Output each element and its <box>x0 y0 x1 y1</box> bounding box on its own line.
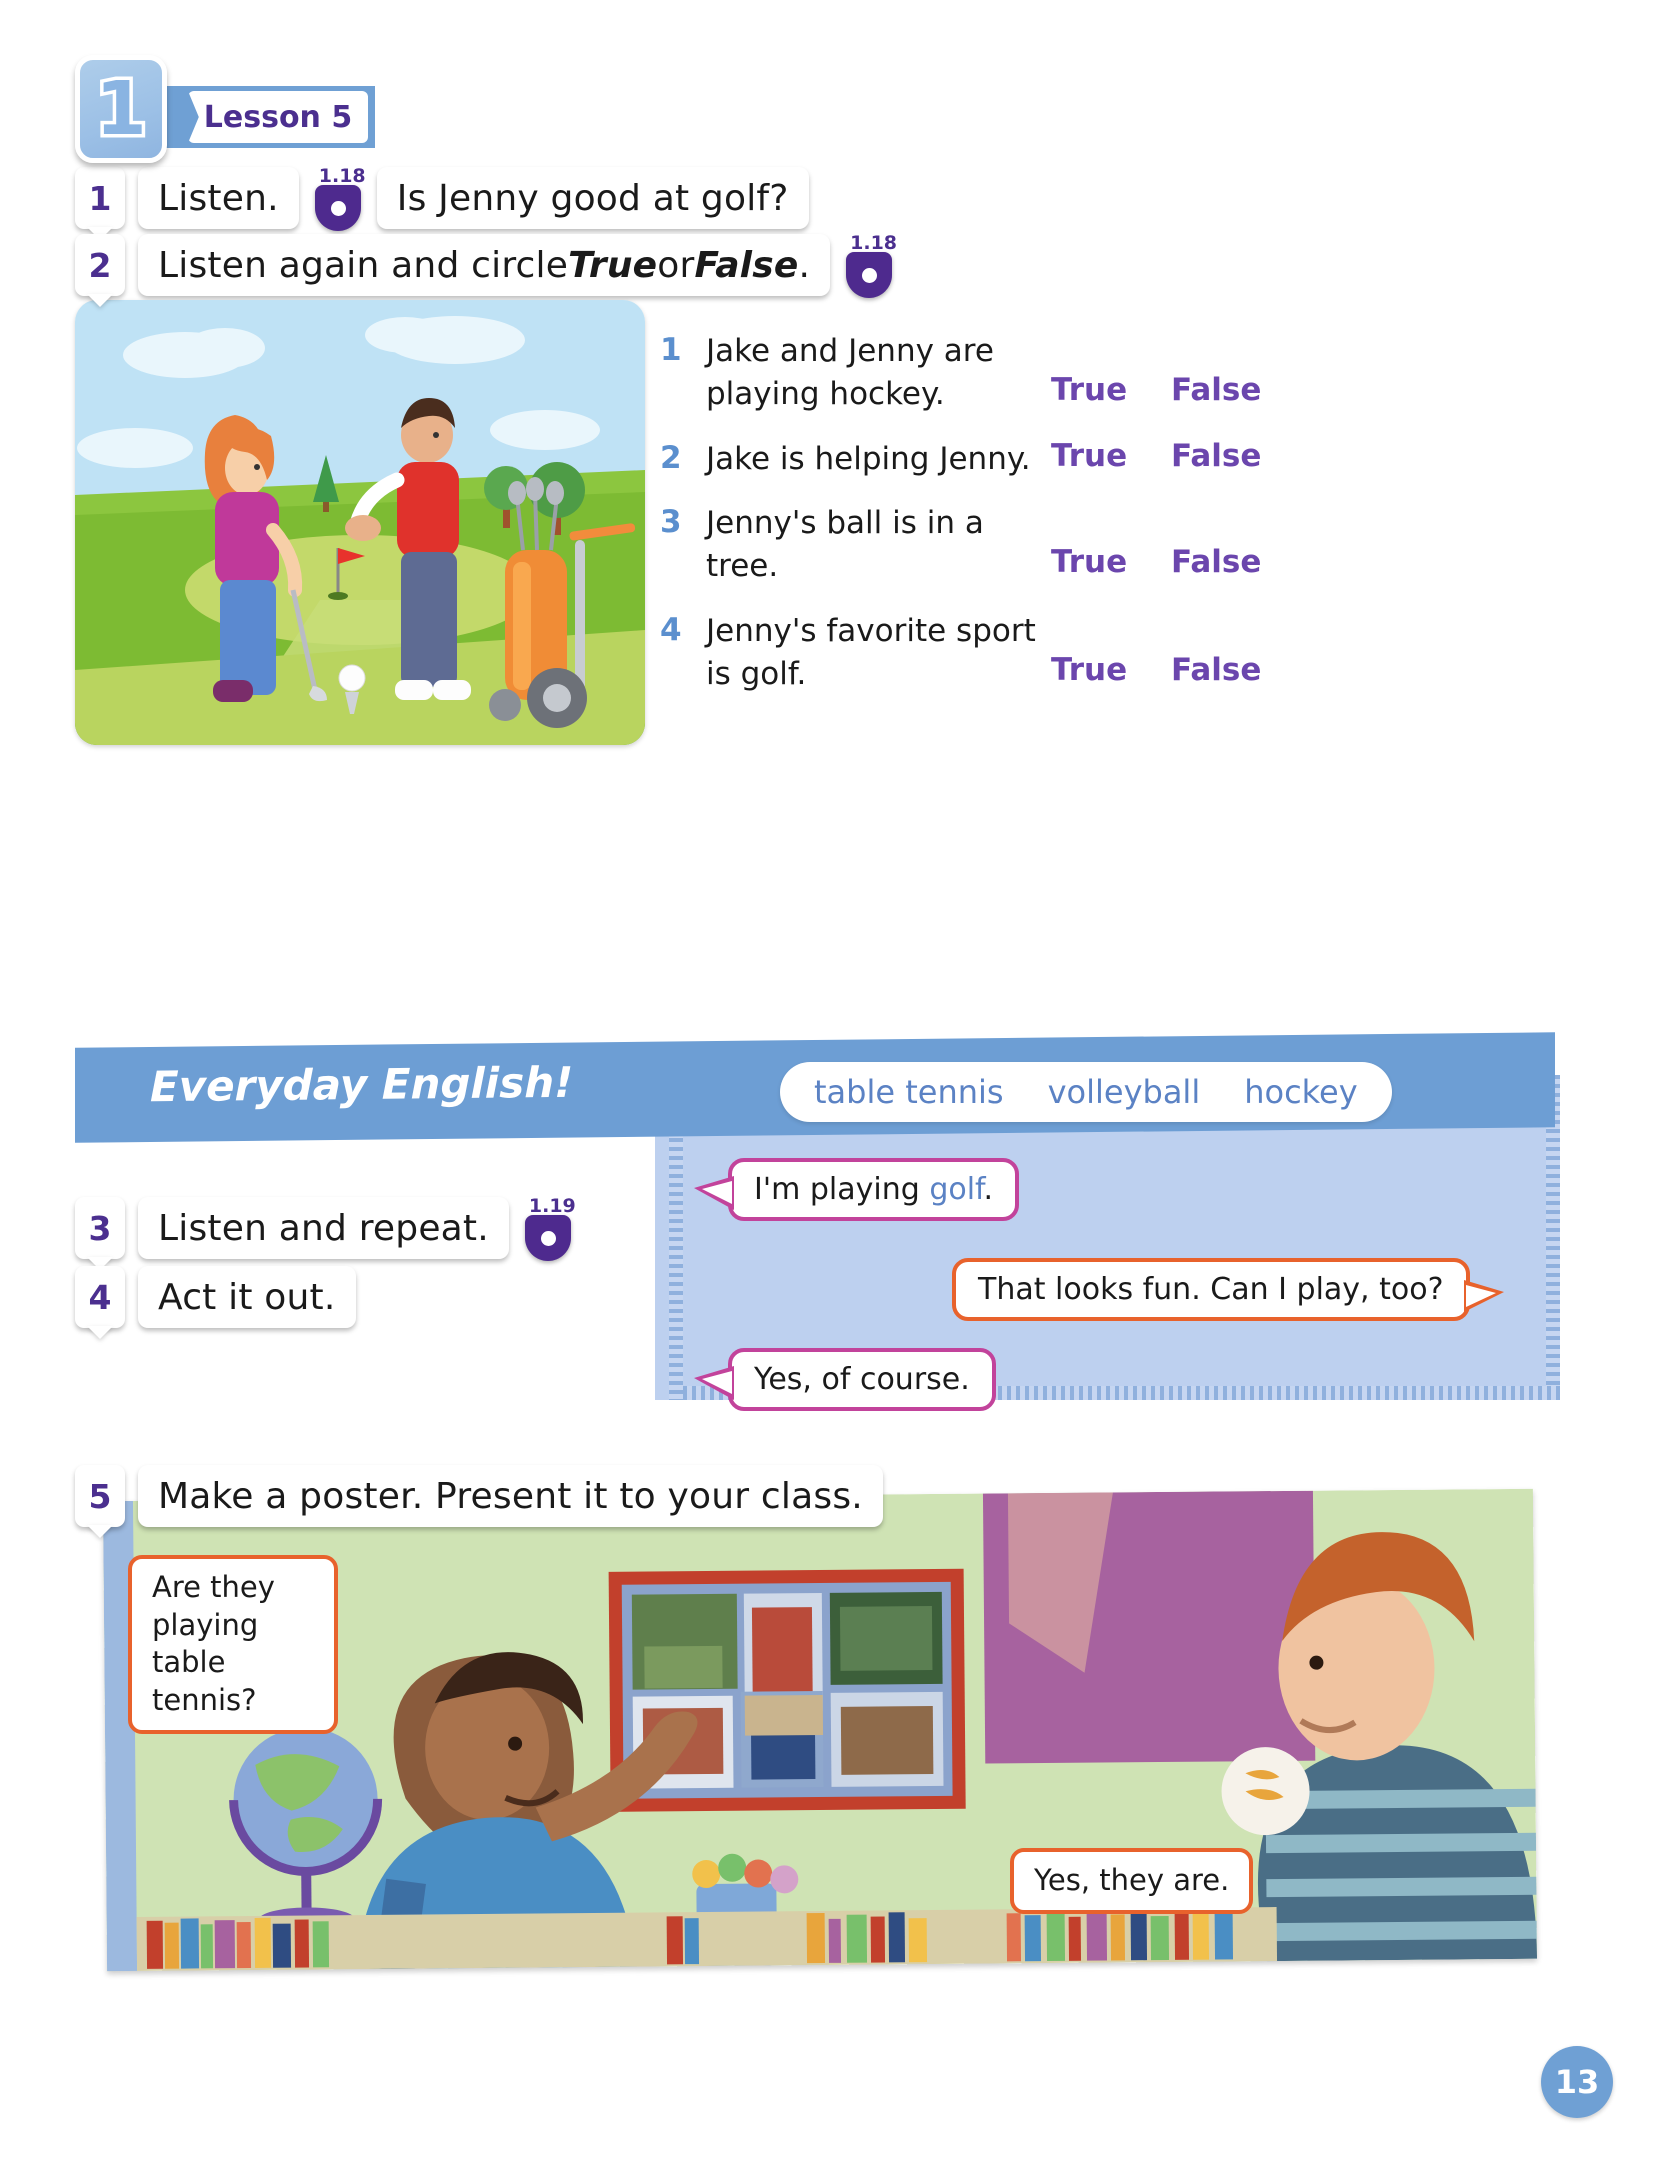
tf-options: True False <box>1051 438 1261 474</box>
speech-bubble-im-playing-golf: I'm playing golf. <box>728 1158 1019 1221</box>
exercise-3-number: 3 <box>75 1197 125 1259</box>
word-volleyball[interactable]: volleyball <box>1048 1073 1201 1111</box>
tf-option-true[interactable]: True <box>1051 372 1171 408</box>
bubble-tail-icon <box>694 1176 734 1210</box>
exercise-3-instruction: Listen and repeat. <box>138 1197 509 1259</box>
table-row: 1 Jake and Jenny are playing hockey. Tru… <box>660 330 1620 416</box>
exercise-5-row: 5 Make a poster. Present it to your clas… <box>75 1465 883 1527</box>
exercise-5-instruction: Make a poster. Present it to your class. <box>138 1465 883 1527</box>
exercise-5-number: 5 <box>75 1465 125 1527</box>
speech-bubble-yes-of-course: Yes, of course. <box>728 1348 996 1411</box>
bubble-tail-icon <box>694 1366 734 1400</box>
exercise-1-question: Is Jenny good at golf? <box>377 167 809 229</box>
tf-option-true[interactable]: True <box>1051 544 1171 580</box>
unit-number-badge: 1 <box>75 55 167 163</box>
exercise-2-text-mid: or <box>657 245 694 286</box>
exercise-2-bold-false: False <box>695 245 799 286</box>
bubble-tail-icon <box>1464 1280 1504 1312</box>
tf-item-statement: Jenny's favorite sport is golf. <box>706 610 1051 696</box>
exercise-3-row: 3 Listen and repeat. 1.19 <box>75 1195 574 1261</box>
cd-disc-shape <box>315 185 361 231</box>
word-table-tennis[interactable]: table tennis <box>814 1073 1004 1111</box>
audio-track-number: 1.18 <box>316 165 369 187</box>
exercise-4-number: 4 <box>75 1266 125 1328</box>
audio-track-number: 1.19 <box>526 1195 579 1217</box>
tf-option-false[interactable]: False <box>1171 438 1261 474</box>
bubble-text-post: . <box>983 1172 993 1207</box>
bubble-text: That looks fun. Can I play, too? <box>978 1272 1444 1307</box>
tf-item-number: 2 <box>660 438 706 476</box>
unit-number-label: 1 <box>95 66 147 152</box>
exercise-4-instruction: Act it out. <box>138 1266 356 1328</box>
bubble-highlight-word: golf <box>929 1172 983 1207</box>
bubble-text: Yes, of course. <box>754 1362 970 1397</box>
tf-option-true[interactable]: True <box>1051 438 1171 474</box>
everyday-english-title: Everyday English! <box>150 1058 573 1111</box>
exercise-1-row: 1 Listen. 1.18 Is Jenny good at golf? <box>75 165 809 231</box>
photo-bubble-answer-text: Yes, they are. <box>1034 1863 1229 1897</box>
lesson-label: Lesson 5 <box>188 91 368 143</box>
tf-option-false[interactable]: False <box>1171 544 1261 580</box>
exercise-2-bold-true: True <box>568 245 657 286</box>
tf-item-number: 3 <box>660 502 706 540</box>
exercise-2-row: 2 Listen again and circle True or False.… <box>75 232 895 298</box>
exercise-4-row: 4 Act it out. <box>75 1266 356 1328</box>
table-row: 4 Jenny's favorite sport is golf. True F… <box>660 610 1620 696</box>
photo-speech-bubble-answer: Yes, they are. <box>1010 1848 1253 1914</box>
vocabulary-word-box: table tennis volleyball hockey <box>780 1062 1392 1122</box>
cd-disc-shape <box>525 1215 571 1261</box>
tf-options: True False <box>1051 652 1261 688</box>
tf-item-statement: Jenny's ball is in a tree. <box>706 502 1051 588</box>
tf-item-number: 4 <box>660 610 706 648</box>
speech-bubble-that-looks-fun: That looks fun. Can I play, too? <box>952 1258 1470 1321</box>
word-hockey[interactable]: hockey <box>1244 1073 1357 1111</box>
tf-options: True False <box>1051 544 1261 580</box>
audio-cd-icon[interactable]: 1.18 <box>312 165 364 231</box>
exercise-1-number: 1 <box>75 167 125 229</box>
tf-option-false[interactable]: False <box>1171 372 1261 408</box>
audio-cd-icon[interactable]: 1.18 <box>843 232 895 298</box>
tf-item-statement: Jake and Jenny are playing hockey. <box>706 330 1051 416</box>
table-row: 3 Jenny's ball is in a tree. True False <box>660 502 1620 588</box>
golf-scene-illustration <box>75 300 645 745</box>
table-row: 2 Jake is helping Jenny. True False <box>660 438 1620 481</box>
audio-cd-icon[interactable]: 1.19 <box>522 1195 574 1261</box>
tf-option-true[interactable]: True <box>1051 652 1171 688</box>
tf-option-false[interactable]: False <box>1171 652 1261 688</box>
exercise-2-text-post: . <box>798 245 810 286</box>
exercise-1-instruction: Listen. <box>138 167 299 229</box>
exercise-2-instruction: Listen again and circle True or False. <box>138 234 830 296</box>
photo-bubble-line2: table tennis? <box>152 1644 314 1719</box>
audio-track-number: 1.18 <box>847 232 900 254</box>
bubble-text-pre: I'm playing <box>754 1172 929 1207</box>
page-number-badge: 13 <box>1541 2046 1613 2118</box>
true-false-question-list: 1 Jake and Jenny are playing hockey. Tru… <box>660 330 1620 717</box>
tf-item-number: 1 <box>660 330 706 368</box>
tf-item-statement: Jake is helping Jenny. <box>706 438 1051 481</box>
cd-disc-shape <box>846 252 892 298</box>
exercise-2-text-pre: Listen again and circle <box>158 245 568 286</box>
photo-bubble-line1: Are they playing <box>152 1569 314 1644</box>
exercise-2-number: 2 <box>75 234 125 296</box>
photo-speech-bubble-question: Are they playing table tennis? <box>128 1555 338 1734</box>
tf-options: True False <box>1051 372 1261 408</box>
